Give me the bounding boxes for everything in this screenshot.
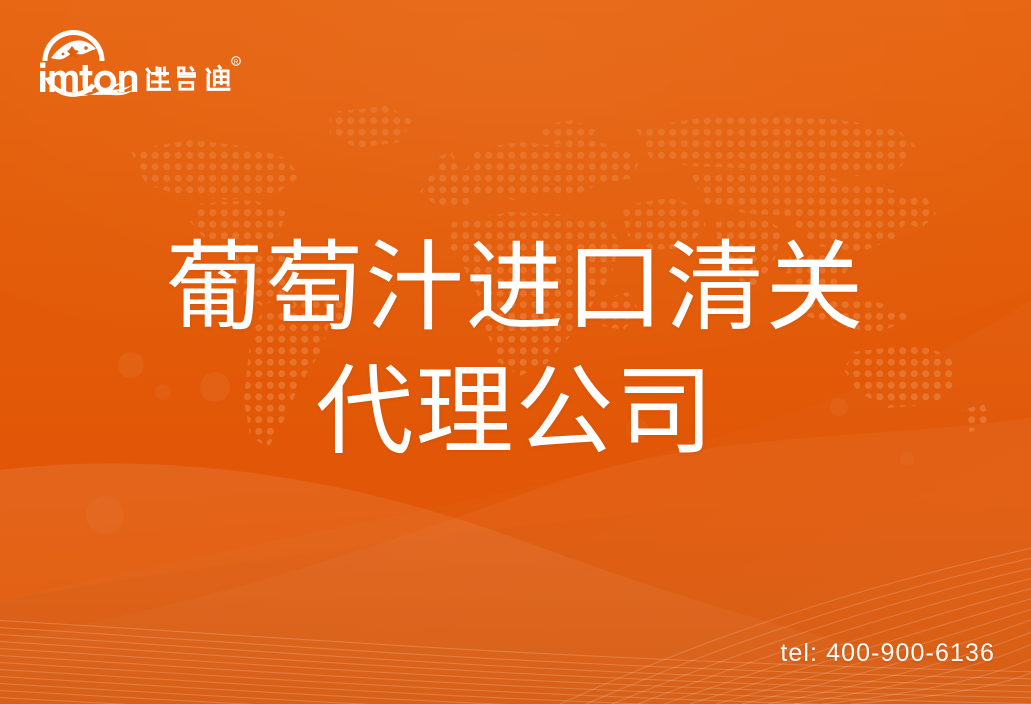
page-title-line-1: 葡萄汁进口清关	[0, 225, 1031, 349]
page-title-line-2: 代理公司	[0, 349, 1031, 473]
poster-canvas: R 葡萄汁进口清关 代理公司 tel: 400-900-6136	[0, 0, 1031, 704]
svg-text:R: R	[234, 60, 239, 66]
brand-logo-mark: R	[33, 28, 248, 102]
contact-phone[interactable]: tel: 400-900-6136	[780, 639, 995, 668]
brand-logo[interactable]: R	[33, 28, 248, 102]
registered-mark-icon: R	[232, 57, 241, 66]
page-title: 葡萄汁进口清关 代理公司	[0, 225, 1031, 473]
bokeh-circle	[86, 496, 124, 534]
